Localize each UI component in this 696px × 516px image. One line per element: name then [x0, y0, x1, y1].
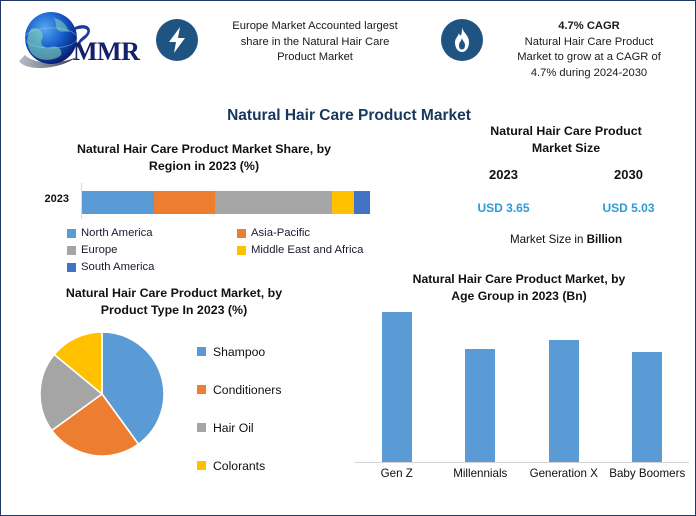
legend-swatch-icon: [197, 347, 206, 356]
region-share-segment: [332, 191, 354, 214]
age-group-axis-labels: Gen ZMillennialsGeneration XBaby Boomers: [355, 465, 689, 482]
region-share-stacked-bar: [82, 191, 370, 214]
age-group-chart: Natural Hair Care Product Market, by Age…: [345, 267, 693, 511]
legend-swatch-icon: [197, 461, 206, 470]
market-size-col-2023: 2023 USD 3.65: [441, 167, 566, 215]
region-share-plot: 2023: [9, 183, 399, 219]
infographic-root: MMR Europe Market Accounted largest shar…: [0, 0, 696, 516]
region-share-title-line2: Region in 2023 (%): [9, 158, 399, 175]
legend-swatch-icon: [197, 423, 206, 432]
product-type-legend-label: Hair Oil: [213, 421, 254, 435]
highlight-cagr: 4.7% CAGR Natural Hair Care Product Mark…: [441, 19, 691, 81]
product-type-legend-item: Hair Oil: [197, 419, 281, 436]
region-legend-item: South America: [67, 259, 237, 275]
legend-swatch-icon: [67, 263, 76, 272]
market-size-year-2030: 2030: [566, 167, 691, 182]
age-group-category-label: Generation X: [522, 465, 606, 482]
region-legend-label: Asia-Pacific: [251, 227, 310, 239]
region-share-segment: [154, 191, 215, 214]
highlight-cagr-strong: 4.7% CAGR: [489, 19, 689, 35]
age-group-bar: [465, 349, 495, 462]
legend-swatch-icon: [237, 246, 246, 255]
lightning-bolt-icon: [156, 19, 198, 61]
market-size-value-2030: USD 5.03: [566, 201, 691, 215]
age-group-baseline: [355, 462, 689, 463]
region-share-title: Natural Hair Care Product Market Share, …: [9, 141, 399, 175]
age-group-bar: [632, 352, 662, 462]
region-share-title-line1: Natural Hair Care Product Market Share, …: [9, 141, 399, 158]
market-size-footnote: Market Size in Billion: [441, 233, 691, 246]
highlight-europe-line3: Product Market: [277, 51, 353, 63]
region-share-segment: [215, 191, 332, 214]
product-type-legend-item: Colorants: [197, 457, 281, 474]
age-group-category-label: Gen Z: [355, 465, 439, 482]
highlight-europe-line2: share in the Natural Hair Care: [241, 36, 390, 48]
product-type-chart: Natural Hair Care Product Market, by Pro…: [9, 285, 339, 510]
region-share-segment: [82, 191, 154, 214]
header-band: MMR Europe Market Accounted largest shar…: [1, 1, 696, 93]
region-legend-label: Middle East and Africa: [251, 244, 363, 256]
product-type-legend-item: Shampoo: [197, 343, 281, 360]
region-legend-label: South America: [81, 261, 154, 273]
highlight-europe-line1: Europe Market Accounted largest: [232, 20, 397, 32]
region-share-category-label: 2023: [17, 193, 69, 205]
market-size-title-line1: Natural Hair Care Product: [441, 123, 691, 140]
highlight-cagr-line2: Market to grow at a CAGR of: [517, 51, 661, 63]
market-size-panel: Natural Hair Care Product Market Size 20…: [441, 123, 691, 263]
market-size-value-2023: USD 3.65: [441, 201, 566, 215]
legend-swatch-icon: [237, 229, 246, 238]
legend-swatch-icon: [67, 246, 76, 255]
region-legend-label: Europe: [81, 244, 117, 256]
market-size-values: 2023 USD 3.65 2030 USD 5.03: [441, 167, 691, 215]
age-group-bar: [382, 312, 412, 462]
region-legend-item: Middle East and Africa: [237, 242, 395, 258]
product-type-title-line2: Product Type In 2023 (%): [9, 302, 339, 319]
age-group-category-label: Millennials: [439, 465, 523, 482]
region-share-chart: Natural Hair Care Product Market Share, …: [9, 141, 399, 281]
region-legend-item: Europe: [67, 242, 237, 258]
region-legend-item: Asia-Pacific: [237, 225, 395, 241]
age-group-bar: [549, 340, 579, 462]
market-size-footnote-prefix: Market Size in: [510, 233, 587, 246]
region-legend-label: North America: [81, 227, 153, 239]
flame-icon: [441, 19, 483, 61]
market-size-title: Natural Hair Care Product Market Size: [441, 123, 691, 157]
product-type-legend-label: Colorants: [213, 459, 265, 473]
product-type-legend-label: Shampoo: [213, 345, 265, 359]
logo-wordmark: MMR: [73, 37, 139, 67]
market-size-year-2023: 2023: [441, 167, 566, 182]
region-legend-item: North America: [67, 225, 237, 241]
region-share-segment: [354, 191, 370, 214]
product-type-legend: ShampooConditionersHair OilColorants: [197, 343, 281, 495]
market-size-title-line2: Market Size: [441, 140, 691, 157]
market-size-footnote-unit: Billion: [587, 233, 622, 246]
product-type-pie: [37, 329, 167, 459]
legend-swatch-icon: [197, 385, 206, 394]
product-type-title-line1: Natural Hair Care Product Market, by: [9, 285, 339, 302]
highlight-cagr-line1: Natural Hair Care Product: [525, 36, 654, 48]
product-type-legend-item: Conditioners: [197, 381, 281, 398]
legend-swatch-icon: [67, 229, 76, 238]
market-size-col-2030: 2030 USD 5.03: [566, 167, 691, 215]
age-group-category-label: Baby Boomers: [606, 465, 690, 482]
highlight-europe: Europe Market Accounted largest share in…: [156, 19, 431, 66]
product-type-legend-label: Conditioners: [213, 383, 281, 397]
age-group-title-line1: Natural Hair Care Product Market, by: [345, 271, 693, 288]
age-group-plot: [355, 293, 689, 463]
mmr-logo: MMR: [15, 9, 145, 75]
highlight-cagr-line3: 4.7% during 2024-2030: [531, 67, 647, 79]
product-type-title: Natural Hair Care Product Market, by Pro…: [9, 285, 339, 319]
